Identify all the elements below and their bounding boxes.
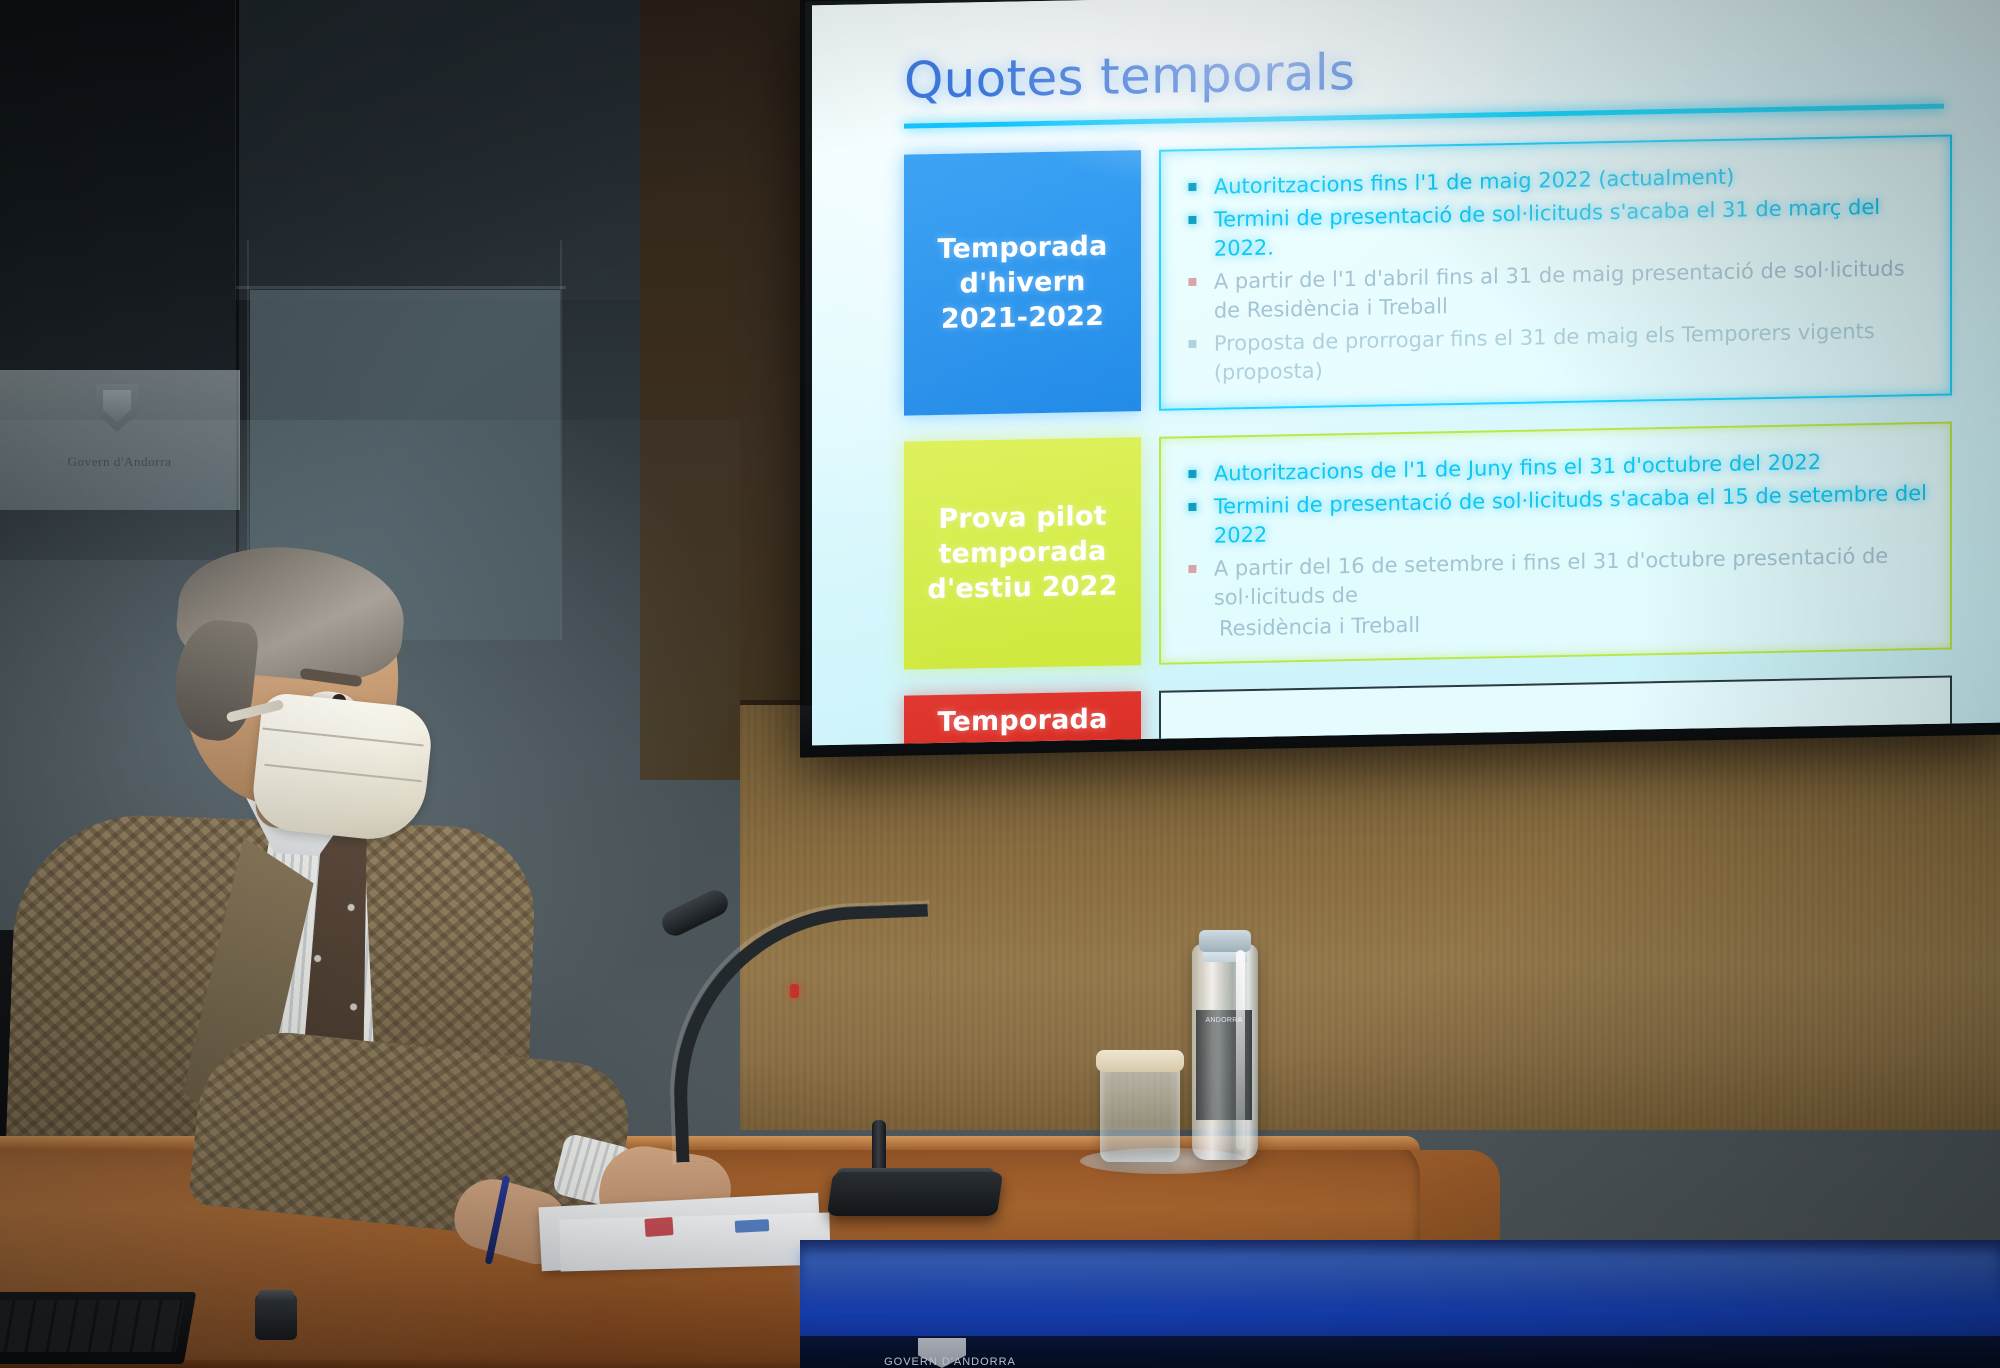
document-marking-blue [735, 1219, 770, 1233]
bullet-marker-icon: ▪ [1187, 268, 1198, 294]
season-tag-line: d'hivern [959, 264, 1085, 302]
water-bottle-cap[interactable] [1199, 930, 1251, 952]
title-underline [904, 104, 1944, 129]
wall-panel-secondary [235, 0, 655, 300]
bullet-marker-icon: ▪ [1187, 493, 1198, 519]
season-detail-panel-winter-2021-2022: ▪ Autoritzacions fins l'1 de maig 2022 (… [1159, 135, 1952, 411]
wall-seam-vertical-3 [560, 240, 562, 640]
microphone-base[interactable] [827, 1172, 1003, 1216]
slide: Quotes temporals Temporada d'hivern 2021… [812, 0, 2000, 745]
season-tag-winter-2022-2023: Temporada d'hivern 2022-2023 [904, 691, 1141, 746]
bullet-text: Termini de presentació de sol·licituds s… [1214, 192, 1928, 264]
bullet-item: ▪ A partir de l'1 d'abril fins al 31 de … [1187, 254, 1928, 326]
press-conference-scene: Govern d'Andorra Quotes temporals Tempor… [0, 0, 2000, 1368]
slide-rows: Temporada d'hivern 2021-2022 ▪ Autoritza… [904, 135, 1952, 746]
bullet-item: ▪ Termini de presentació de sol·licituds… [1187, 479, 1928, 551]
season-tag-summer-pilot-2022: Prova pilot temporada d'estiu 2022 [904, 437, 1141, 669]
season-tag-line: temporada [938, 534, 1106, 572]
face-mask [249, 691, 434, 844]
bullet-text: Autoritzacions fins l'1 de maig 2022 (ac… [1214, 163, 1734, 202]
drinking-glass-lid[interactable] [1096, 1050, 1184, 1072]
slide-row-winter-2021-2022: Temporada d'hivern 2021-2022 ▪ Autoritza… [904, 135, 1952, 416]
wall-seam-vertical-1 [236, 0, 239, 640]
drinking-glass[interactable] [1100, 1062, 1180, 1162]
season-tag-winter-2021-2022: Temporada d'hivern 2021-2022 [904, 150, 1141, 415]
podium-light-glow [800, 1250, 2000, 1310]
document-stack-top-sheet[interactable] [559, 1212, 830, 1271]
wall-plaque: Govern d'Andorra [0, 370, 240, 510]
bullet-text: A partir del 16 de setembre i fins el 31… [1214, 541, 1928, 613]
season-tag-line: Prova pilot [938, 499, 1106, 537]
document-marking-red [644, 1217, 673, 1237]
bullet-text: A partir de l'1 d'abril fins al 31 de ma… [1214, 254, 1928, 326]
bullet-marker-icon: ▪ [1187, 206, 1198, 232]
microphone-status-led [790, 984, 799, 998]
season-tag-line: d'estiu 2022 [927, 569, 1117, 608]
wall-seam-horizontal-1 [236, 286, 566, 289]
season-tag-line: Temporada [937, 701, 1107, 739]
bullet-text: Proposta de prorrogar fins el 31 de maig… [1214, 316, 1928, 388]
season-detail-panel-summer-pilot-2022: ▪ Autoritzacions de l'1 de Juny fins el … [1159, 421, 1952, 664]
bullet-text: Termini de presentació de sol·licituds s… [1214, 479, 1928, 551]
plaque-label: Govern d'Andorra [0, 454, 239, 470]
podium-caption: GOVERN D'ANDORRA [760, 1356, 1140, 1368]
season-tag-line: 2021-2022 [941, 299, 1104, 337]
water-bottle-highlight [1236, 950, 1245, 1150]
slide-title: Quotes temporals [904, 32, 1952, 110]
control-knob-top[interactable] [258, 1290, 294, 1302]
bullet-marker-icon: ▪ [1187, 330, 1198, 356]
bullet-item: ▪ Proposta de prorrogar fins el 31 de ma… [1187, 316, 1928, 388]
bullet-item: ▪ Termini de presentació de sol·licituds… [1187, 192, 1928, 264]
presentation-screen[interactable]: Quotes temporals Temporada d'hivern 2021… [812, 0, 2000, 745]
bullet-marker-icon: ▪ [1187, 460, 1198, 486]
season-tag-line: Temporada [937, 228, 1107, 266]
control-keyboard-keys[interactable] [0, 1300, 185, 1352]
slide-row-summer-pilot-2022: Prova pilot temporada d'estiu 2022 ▪ Aut… [904, 421, 1952, 669]
bullet-marker-icon: ▪ [1187, 555, 1198, 581]
bullet-marker-icon: ▪ [1187, 173, 1198, 199]
